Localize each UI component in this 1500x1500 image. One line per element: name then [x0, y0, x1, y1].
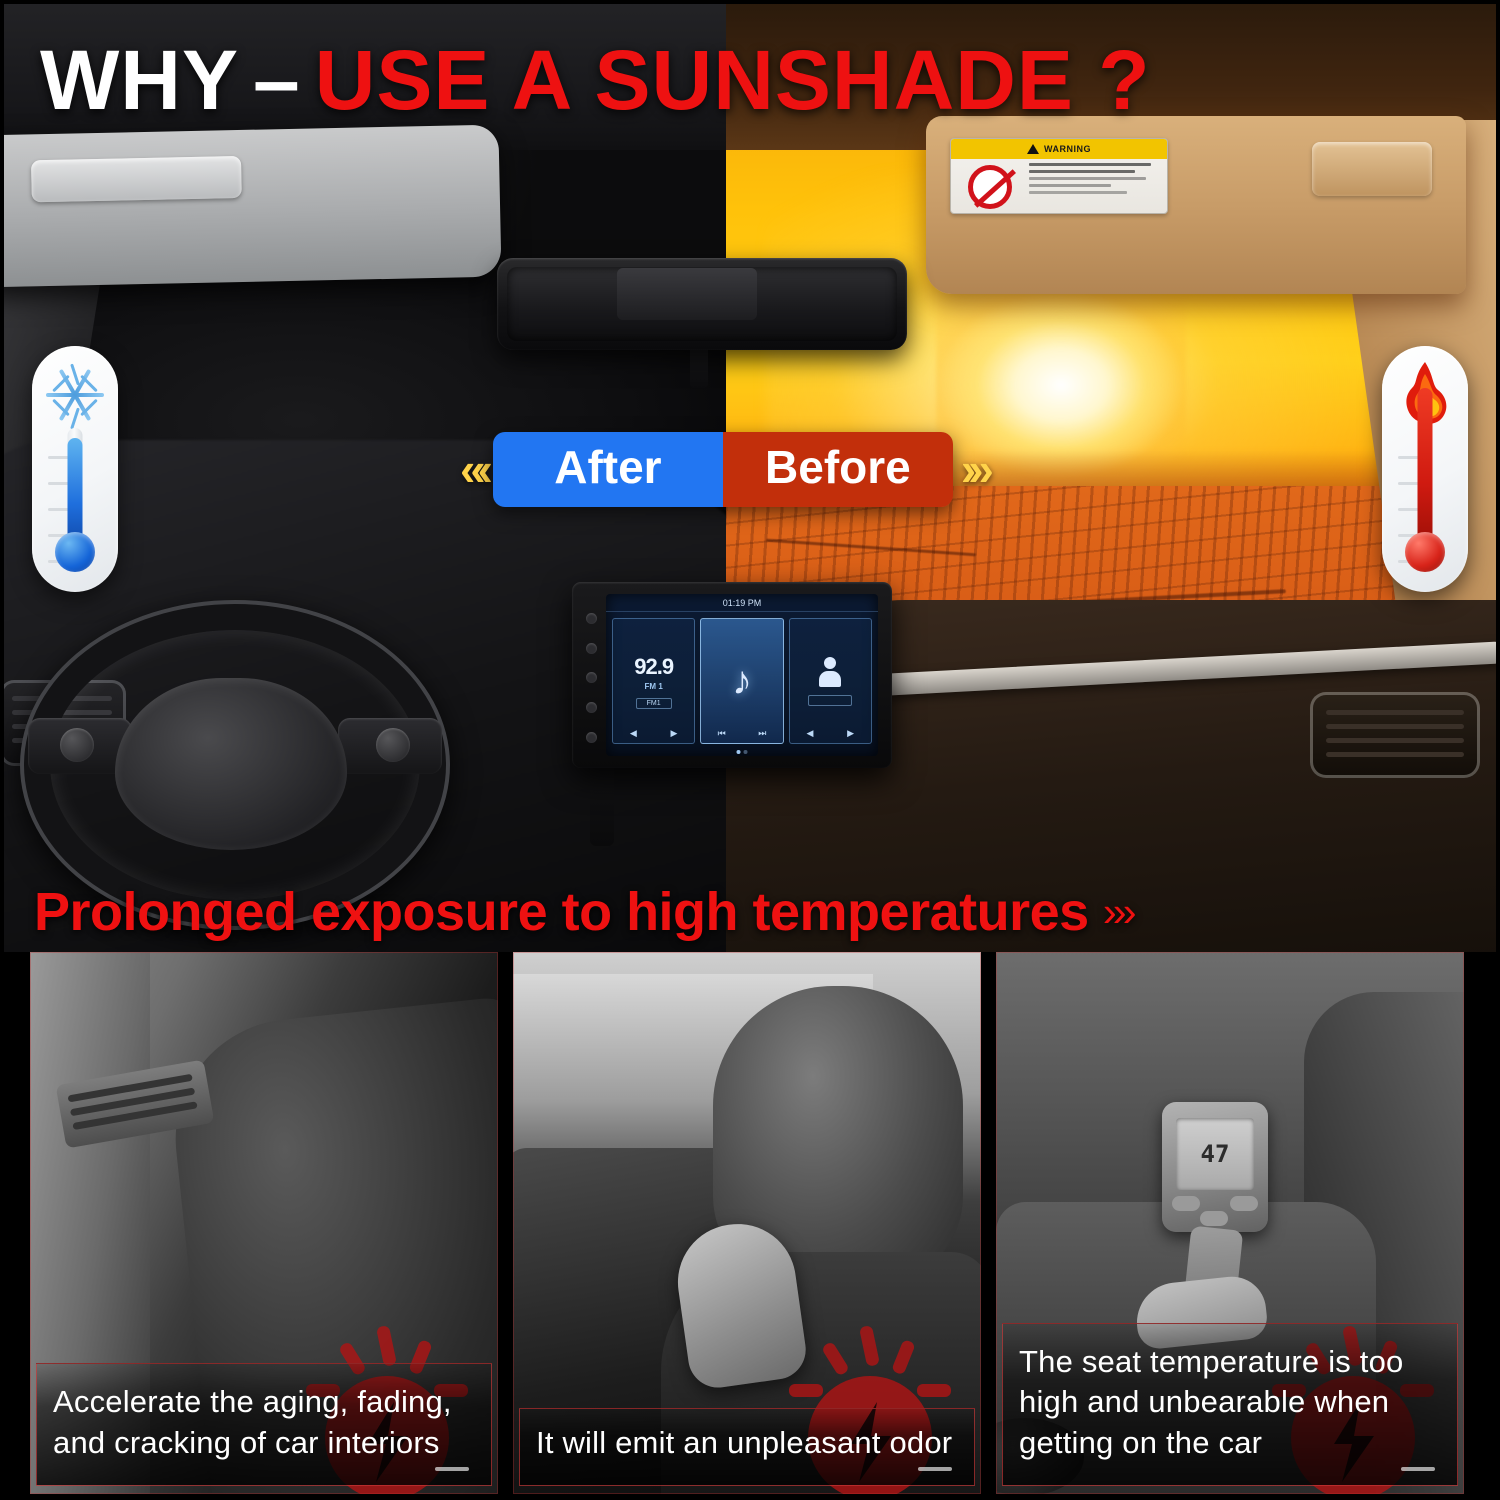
hot-thermometer-bulb: [1405, 532, 1445, 572]
heat-warning-banner: Prolonged exposure to high temperatures …: [0, 872, 1500, 952]
infotainment-head-unit[interactable]: 01:19 PM 92.9 FM 1 FM1 ◀ ▶ ♪: [572, 582, 892, 768]
panel-caption-text: The seat temperature is too high and unb…: [1019, 1344, 1403, 1460]
radio-frequency: 92.9: [634, 654, 673, 680]
head-unit-screen[interactable]: 01:19 PM 92.9 FM 1 FM1 ◀ ▶ ♪: [606, 594, 878, 756]
power-button[interactable]: [586, 613, 597, 624]
after-badge[interactable]: After: [493, 432, 723, 507]
music-note-icon: ♪: [732, 661, 752, 701]
visor-warning-label: WARNING: [950, 138, 1168, 214]
profile-tile[interactable]: ◀ ▶: [789, 618, 872, 744]
radio-prev-icon[interactable]: ◀: [630, 728, 637, 739]
panel-unpleasant-odor: It will emit an unpleasant odor: [513, 952, 981, 1494]
profile-prev-icon[interactable]: ◀: [807, 728, 814, 739]
panel-caption: It will emit an unpleasant odor: [519, 1408, 975, 1486]
warning-fine-print: [1029, 159, 1167, 214]
caption-underline: [435, 1467, 469, 1471]
warning-text: WARNING: [1044, 144, 1091, 154]
page-title: WHY – USE A SUNSHADE ?: [0, 28, 1500, 132]
chevron-left-icon: «‹: [460, 442, 485, 496]
clock: 01:19 PM: [723, 598, 762, 608]
status-bar: 01:19 PM: [606, 594, 878, 612]
hot-thermometer-fill: [1418, 388, 1433, 548]
panel-seat-temperature: 47 The seat tempe: [996, 952, 1464, 1494]
thermometer-gun-display: 47: [1176, 1118, 1254, 1190]
snowflake-icon: [42, 362, 108, 428]
thermometer-gun-buttons: [1172, 1196, 1258, 1226]
eject-button[interactable]: [586, 732, 597, 743]
steering-button-right: [376, 728, 410, 762]
title-dash: –: [253, 32, 301, 129]
infrared-thermometer-gun: 47: [1162, 1102, 1268, 1332]
cold-thermometer-bulb: [55, 532, 95, 572]
media-prev-icon[interactable]: ⏮: [718, 728, 726, 739]
volume-button[interactable]: [586, 672, 597, 683]
driver-profile-icon: [819, 657, 841, 687]
sun-visor-right: WARNING: [926, 116, 1466, 294]
no-rear-facing-child-seat-icon: [951, 159, 1029, 214]
visor-mirror-cover: [1312, 142, 1432, 196]
title-red-words: USE A SUNSHADE ?: [315, 32, 1151, 129]
profile-progress-bar: [808, 695, 852, 706]
media-tile[interactable]: ♪ ⏮ ⏭: [700, 618, 783, 744]
hot-thermometer: [1382, 346, 1468, 592]
panel-caption-text: Accelerate the aging, fading, and cracki…: [53, 1384, 452, 1459]
consequence-panels: Accelerate the aging, fading, and cracki…: [0, 952, 1500, 1500]
page-indicator: [737, 750, 748, 754]
warning-triangle-icon: [1027, 144, 1039, 154]
caption-underline: [918, 1467, 952, 1471]
radio-next-icon[interactable]: ▶: [671, 728, 678, 739]
radio-preset[interactable]: FM1: [636, 698, 672, 709]
before-after-hero: WARNING: [0, 0, 1500, 952]
chevrons-right-icon: ›››: [1103, 888, 1133, 936]
steering-button-left: [60, 728, 94, 762]
profile-next-icon[interactable]: ▶: [847, 728, 854, 739]
sun-visor-left: [0, 125, 502, 288]
panel-caption: Accelerate the aging, fading, and cracki…: [36, 1363, 492, 1486]
head-unit-side-buttons[interactable]: [580, 604, 602, 752]
home-button[interactable]: [586, 643, 597, 654]
cold-thermometer: [32, 346, 118, 592]
before-after-toggle[interactable]: «‹ After Before ›»: [460, 432, 986, 507]
media-next-icon[interactable]: ⏭: [758, 728, 766, 739]
warning-label-header: WARNING: [951, 139, 1167, 159]
radio-tile[interactable]: 92.9 FM 1 FM1 ◀ ▶: [612, 618, 695, 744]
caption-underline: [1401, 1467, 1435, 1471]
panel-caption: The seat temperature is too high and unb…: [1002, 1323, 1458, 1486]
air-vent-right: [1310, 692, 1480, 778]
title-white-word: WHY: [40, 32, 239, 129]
before-badge[interactable]: Before: [723, 432, 953, 507]
menu-button[interactable]: [586, 702, 597, 713]
rearview-mirror: [497, 258, 907, 350]
heat-warning-text: Prolonged exposure to high temperatures: [34, 881, 1089, 943]
radio-band: FM 1: [645, 682, 663, 691]
rear-headrest-reflection: [617, 268, 757, 320]
airbag-hub: [115, 678, 347, 850]
product-infographic: WARNING: [0, 0, 1500, 1500]
panel-caption-text: It will emit an unpleasant odor: [536, 1425, 952, 1460]
panel-aging-fading-cracking: Accelerate the aging, fading, and cracki…: [30, 952, 498, 1494]
chevron-right-icon: ›»: [961, 442, 986, 496]
